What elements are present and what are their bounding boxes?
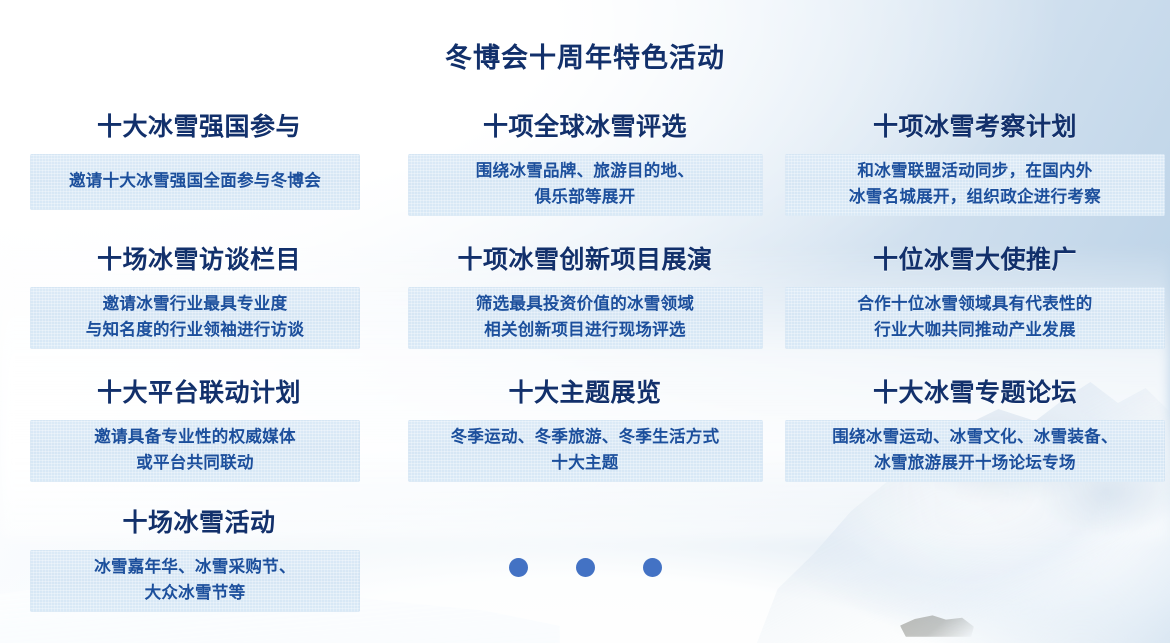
activity-card-description: 冬季运动、冬季旅游、冬季生活方式 十大主题 bbox=[441, 425, 730, 476]
activity-card-description-box: 冰雪嘉年华、冰雪采购节、 大众冰雪节等 bbox=[30, 550, 360, 612]
activity-card-description-box: 邀请具备专业性的权威媒体 或平台共同联动 bbox=[30, 420, 360, 482]
slide-canvas: 冬博会十周年特色活动 十大冰雪强国参与 邀请十大冰雪强国全面参与冬博会 十项全球… bbox=[0, 0, 1170, 643]
activity-card-4[interactable]: 十场冰雪访谈栏目 邀请冰雪行业最具专业度 与知名度的行业领袖进行访谈 bbox=[0, 237, 390, 370]
activity-card-2[interactable]: 十项全球冰雪评选 围绕冰雪品牌、旅游目的地、 俱乐部等展开 bbox=[390, 104, 780, 237]
activity-card-description-box: 和冰雪联盟活动同步，在国内外 冰雪名城展开，组织政企进行考察 bbox=[785, 154, 1165, 216]
activity-card-title: 十大主题展览 bbox=[390, 370, 780, 420]
activity-card-description: 和冰雪联盟活动同步，在国内外 冰雪名城展开，组织政企进行考察 bbox=[839, 159, 1111, 210]
activity-card-description-box: 邀请冰雪行业最具专业度 与知名度的行业领袖进行访谈 bbox=[30, 287, 360, 349]
activity-grid: 十大冰雪强国参与 邀请十大冰雪强国全面参与冬博会 十项全球冰雪评选 围绕冰雪品牌… bbox=[0, 104, 1170, 635]
activity-row-1: 十大冰雪强国参与 邀请十大冰雪强国全面参与冬博会 十项全球冰雪评选 围绕冰雪品牌… bbox=[0, 104, 1170, 237]
activity-card-description-box: 邀请十大冰雪强国全面参与冬博会 bbox=[30, 154, 360, 210]
activity-card-description: 邀请冰雪行业最具专业度 与知名度的行业领袖进行访谈 bbox=[76, 292, 314, 343]
activity-card-title: 十项冰雪创新项目展演 bbox=[390, 237, 780, 287]
pagination-dot-1[interactable] bbox=[509, 558, 528, 577]
activity-card-title: 十场冰雪访谈栏目 bbox=[0, 237, 390, 287]
activity-card-description: 围绕冰雪品牌、旅游目的地、 俱乐部等展开 bbox=[466, 159, 704, 210]
activity-card-title: 十项全球冰雪评选 bbox=[390, 104, 780, 154]
activity-row-4-spacer-right bbox=[780, 500, 1170, 635]
activity-card-title: 十大平台联动计划 bbox=[0, 370, 390, 420]
slide-content: 冬博会十周年特色活动 十大冰雪强国参与 邀请十大冰雪强国全面参与冬博会 十项全球… bbox=[0, 0, 1170, 643]
activity-card-title: 十大冰雪强国参与 bbox=[0, 104, 390, 154]
activity-card-description-box: 筛选最具投资价值的冰雪领域 相关创新项目进行现场评选 bbox=[408, 287, 763, 349]
activity-card-description: 邀请十大冰雪强国全面参与冬博会 bbox=[59, 169, 331, 195]
activity-card-9[interactable]: 十大冰雪专题论坛 围绕冰雪运动、冰雪文化、冰雪装备、 冰雪旅游展开十场论坛专场 bbox=[780, 370, 1170, 500]
activity-card-title: 十大冰雪专题论坛 bbox=[780, 370, 1170, 420]
activity-card-description: 筛选最具投资价值的冰雪领域 相关创新项目进行现场评选 bbox=[466, 292, 704, 343]
activity-card-title: 十项冰雪考察计划 bbox=[780, 104, 1170, 154]
activity-card-7[interactable]: 十大平台联动计划 邀请具备专业性的权威媒体 或平台共同联动 bbox=[0, 370, 390, 500]
pagination-dots[interactable] bbox=[390, 558, 780, 577]
pagination-dot-3[interactable] bbox=[643, 558, 662, 577]
activity-card-description: 邀请具备专业性的权威媒体 或平台共同联动 bbox=[84, 425, 306, 476]
activity-card-title: 十位冰雪大使推广 bbox=[780, 237, 1170, 287]
activity-card-1[interactable]: 十大冰雪强国参与 邀请十大冰雪强国全面参与冬博会 bbox=[0, 104, 390, 237]
activity-card-description: 合作十位冰雪领域具有代表性的 行业大咖共同推动产业发展 bbox=[847, 292, 1102, 343]
activity-card-description: 围绕冰雪运动、冰雪文化、冰雪装备、 冰雪旅游展开十场论坛专场 bbox=[822, 425, 1128, 476]
activity-card-10[interactable]: 十场冰雪活动 冰雪嘉年华、冰雪采购节、 大众冰雪节等 bbox=[0, 500, 390, 635]
activity-card-description-box: 围绕冰雪品牌、旅游目的地、 俱乐部等展开 bbox=[408, 154, 763, 216]
activity-card-5[interactable]: 十项冰雪创新项目展演 筛选最具投资价值的冰雪领域 相关创新项目进行现场评选 bbox=[390, 237, 780, 370]
pagination-dot-2[interactable] bbox=[576, 558, 595, 577]
activity-card-3[interactable]: 十项冰雪考察计划 和冰雪联盟活动同步，在国内外 冰雪名城展开，组织政企进行考察 bbox=[780, 104, 1170, 237]
activity-row-3: 十大平台联动计划 邀请具备专业性的权威媒体 或平台共同联动 十大主题展览 冬季运… bbox=[0, 370, 1170, 500]
page-title: 冬博会十周年特色活动 bbox=[0, 36, 1170, 75]
activity-row-2: 十场冰雪访谈栏目 邀请冰雪行业最具专业度 与知名度的行业领袖进行访谈 十项冰雪创… bbox=[0, 237, 1170, 370]
activity-card-description-box: 围绕冰雪运动、冰雪文化、冰雪装备、 冰雪旅游展开十场论坛专场 bbox=[785, 420, 1165, 482]
activity-card-8[interactable]: 十大主题展览 冬季运动、冬季旅游、冬季生活方式 十大主题 bbox=[390, 370, 780, 500]
activity-card-description-box: 冬季运动、冬季旅游、冬季生活方式 十大主题 bbox=[408, 420, 763, 482]
activity-card-6[interactable]: 十位冰雪大使推广 合作十位冰雪领域具有代表性的 行业大咖共同推动产业发展 bbox=[780, 237, 1170, 370]
activity-card-description: 冰雪嘉年华、冰雪采购节、 大众冰雪节等 bbox=[84, 555, 306, 606]
activity-card-description-box: 合作十位冰雪领域具有代表性的 行业大咖共同推动产业发展 bbox=[785, 287, 1165, 349]
activity-card-title: 十场冰雪活动 bbox=[0, 500, 390, 550]
